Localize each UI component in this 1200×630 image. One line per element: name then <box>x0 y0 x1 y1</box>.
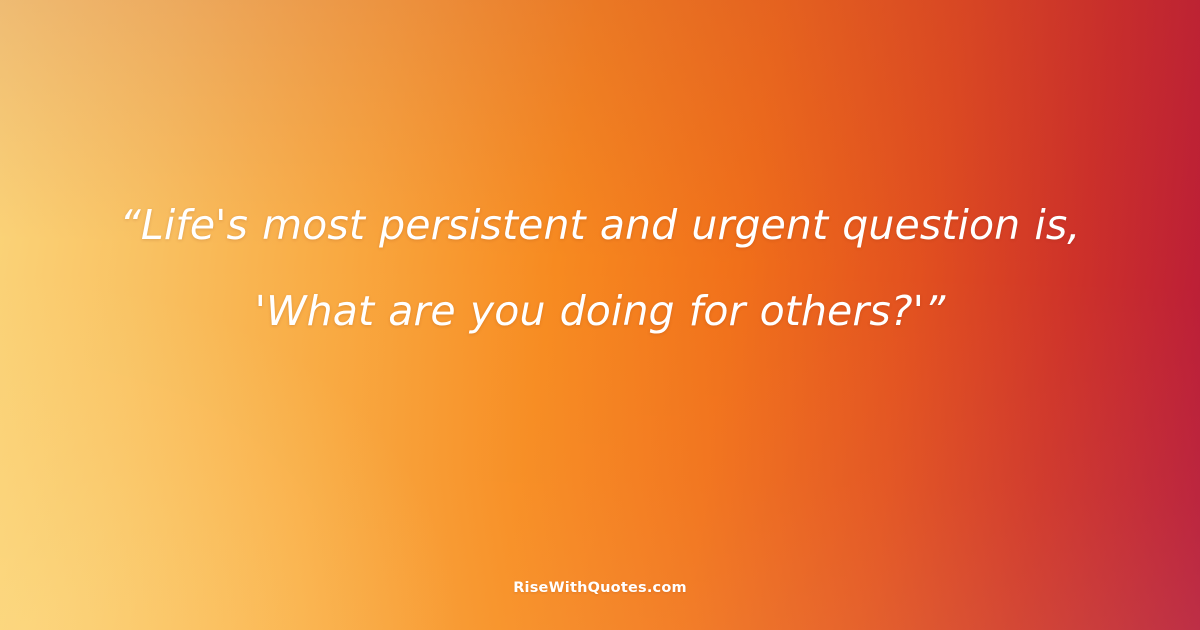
quote-text: “Life's most persistent and urgent quest… <box>95 182 1105 354</box>
quote-card: “Life's most persistent and urgent quest… <box>0 0 1200 630</box>
site-credit-label: RiseWithQuotes.com <box>0 580 1200 596</box>
card-content: “Life's most persistent and urgent quest… <box>0 0 1200 630</box>
